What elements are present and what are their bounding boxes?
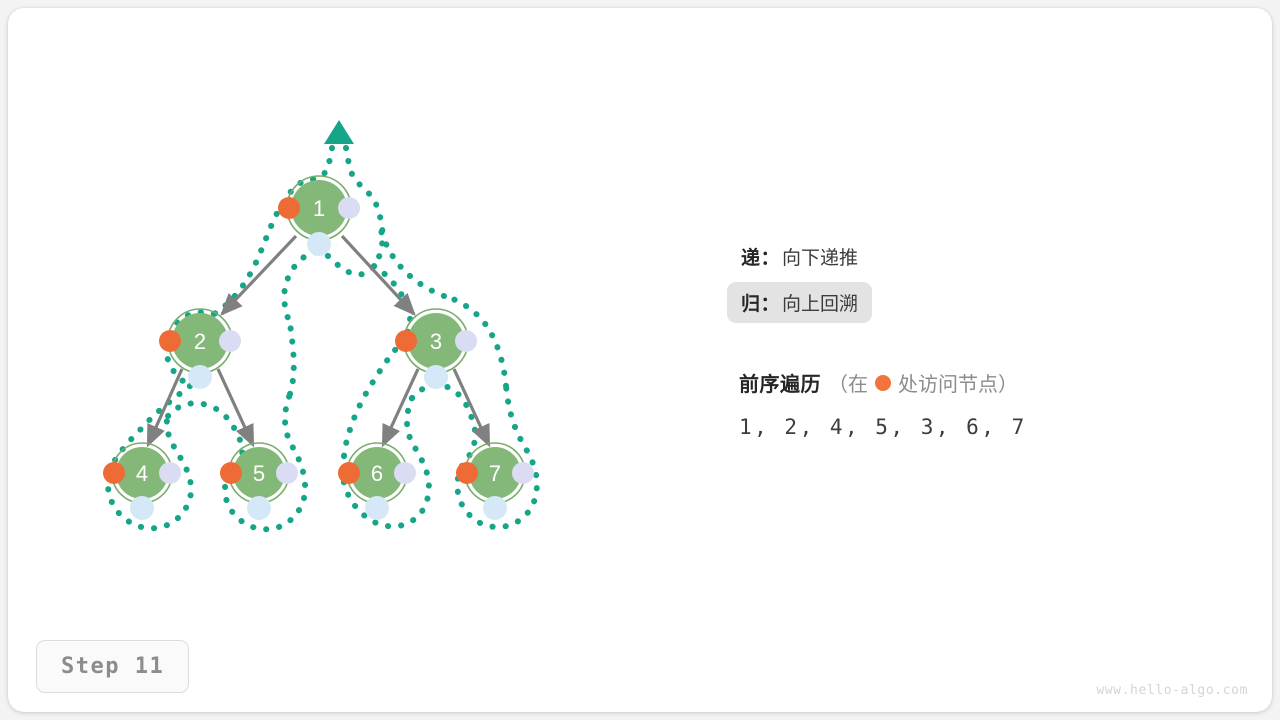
legend-recurse-key: 递：	[741, 243, 780, 270]
node-2-post-dot	[188, 365, 212, 389]
node-6-in-dot	[394, 462, 416, 484]
tree-node-3[interactable]: 3	[395, 309, 477, 389]
traversal-sequence: 1, 2, 4, 5, 3, 6, 7	[739, 415, 1259, 439]
page-background: 1 2 3	[0, 0, 1280, 720]
node-3-label: 3	[430, 329, 442, 354]
tree-node-2[interactable]: 2	[159, 309, 241, 389]
traversal-note-close: 处访问节点）	[898, 368, 1018, 397]
node-1-post-dot	[307, 232, 331, 256]
node-5-pre-dot	[220, 462, 242, 484]
legend-pill-recurse: 递： 向下递推	[727, 236, 872, 277]
node-4-pre-dot	[103, 462, 125, 484]
up-triangle-marker-icon	[324, 120, 354, 144]
edge-2-5	[218, 369, 253, 445]
watermark: www.hello-algo.com	[1096, 683, 1248, 698]
legend-row-backtrack: 归： 向上回溯	[727, 282, 1227, 322]
tree-node-5[interactable]: 5	[220, 443, 298, 520]
traversal-order-block: 前序遍历 （在 处访问节点） 1, 2, 4, 5, 3, 6, 7	[739, 368, 1259, 439]
node-7-label: 7	[489, 461, 501, 486]
node-1-label: 1	[313, 196, 325, 221]
path-root-underloop	[284, 252, 328, 324]
node-5-post-dot	[247, 496, 271, 520]
node-3-post-dot	[424, 365, 448, 389]
node-2-in-dot	[219, 330, 241, 352]
legend-backtrack-key: 归：	[741, 289, 780, 316]
tree-node-4[interactable]: 4	[103, 443, 181, 520]
node-5-label: 5	[253, 461, 265, 486]
step-badge: Step 11	[36, 640, 189, 693]
node-7-in-dot	[512, 462, 534, 484]
edge-1-3	[342, 236, 414, 314]
node-2-label: 2	[194, 329, 206, 354]
node-4-post-dot	[130, 496, 154, 520]
node-7-post-dot	[483, 496, 507, 520]
node-5-in-dot	[276, 462, 298, 484]
node-1-pre-dot	[278, 197, 300, 219]
traversal-note-open: （在	[828, 368, 868, 397]
node-1-in-dot	[338, 197, 360, 219]
edge-3-6	[383, 369, 418, 445]
path-node3-down-left	[344, 340, 404, 456]
traversal-title: 前序遍历	[739, 368, 821, 397]
traversal-note: （在 处访问节点）	[828, 368, 1018, 397]
legend-panel: 递： 向下递推 归： 向上回溯	[727, 236, 1227, 322]
diagram-card: 1 2 3	[8, 8, 1272, 712]
node-4-in-dot	[159, 462, 181, 484]
node-6-post-dot	[365, 496, 389, 520]
legend-pill-backtrack: 归： 向上回溯	[727, 282, 872, 323]
legend-row-recurse: 递： 向下递推	[727, 236, 1227, 276]
orange-dot-icon	[875, 375, 891, 391]
edge-3-7	[454, 369, 489, 445]
node-6-label: 6	[371, 461, 383, 486]
node-3-pre-dot	[395, 330, 417, 352]
traversal-title-row: 前序遍历 （在 处访问节点）	[739, 368, 1259, 397]
node-7-pre-dot	[456, 462, 478, 484]
node-4-label: 4	[136, 461, 148, 486]
legend-backtrack-value: 向上回溯	[782, 289, 858, 316]
binary-tree-diagram: 1 2 3	[8, 8, 1272, 712]
legend-recurse-value: 向下递推	[782, 243, 858, 270]
node-3-in-dot	[455, 330, 477, 352]
node-6-pre-dot	[338, 462, 360, 484]
tree-node-6[interactable]: 6	[338, 443, 416, 520]
node-2-pre-dot	[159, 330, 181, 352]
path-left-return	[290, 324, 294, 394]
